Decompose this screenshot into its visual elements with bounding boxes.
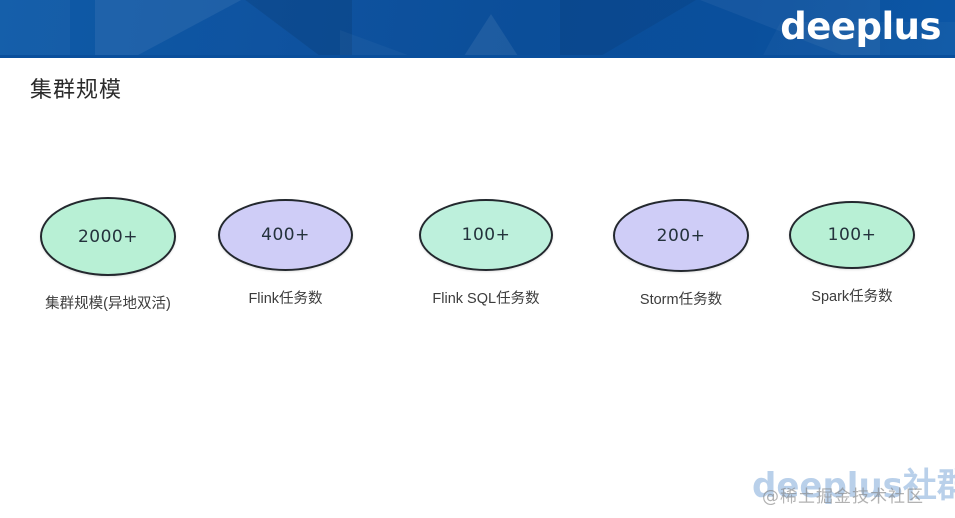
banner-shape-1 bbox=[0, 0, 70, 55]
header-banner: deeplus bbox=[0, 0, 955, 55]
watermark-source: @稀土掘金技术社区 bbox=[762, 482, 924, 507]
metric-label: Storm任务数 bbox=[613, 288, 749, 309]
metric-item: 200+Storm任务数 bbox=[613, 199, 749, 309]
banner-shape-2 bbox=[95, 0, 245, 55]
metric-ellipse: 400+ bbox=[218, 199, 353, 271]
metric-ellipse: 200+ bbox=[613, 199, 749, 272]
banner-shape-5 bbox=[455, 14, 527, 55]
banner-underline bbox=[0, 55, 955, 58]
metric-label: Flink任务数 bbox=[218, 287, 353, 308]
metric-value: 200+ bbox=[657, 226, 706, 246]
metric-item: 2000+集群规模(异地双活) bbox=[40, 197, 176, 313]
banner-shape-3 bbox=[232, 0, 352, 55]
metric-value: 100+ bbox=[462, 225, 511, 245]
page-title: 集群规模 bbox=[30, 72, 122, 104]
metrics-row: 2000+集群规模(异地双活)400+Flink任务数100+Flink SQL… bbox=[0, 193, 955, 323]
metric-ellipse: 100+ bbox=[789, 201, 915, 269]
metric-item: 100+Spark任务数 bbox=[789, 201, 915, 306]
banner-shape-6 bbox=[560, 0, 730, 55]
metric-label: Flink SQL任务数 bbox=[419, 287, 553, 308]
metric-value: 2000+ bbox=[78, 227, 138, 247]
deeplus-logo: deeplus bbox=[780, 4, 941, 50]
metric-value: 400+ bbox=[261, 225, 310, 245]
metric-ellipse: 2000+ bbox=[40, 197, 176, 276]
banner-shape-4 bbox=[340, 30, 470, 55]
slide-canvas: deeplus 集群规模 2000+集群规模(异地双活)400+Flink任务数… bbox=[0, 0, 955, 518]
metric-item: 100+Flink SQL任务数 bbox=[419, 199, 553, 308]
metric-item: 400+Flink任务数 bbox=[218, 199, 353, 308]
metric-label: Spark任务数 bbox=[789, 285, 915, 306]
metric-ellipse: 100+ bbox=[419, 199, 553, 271]
metric-label: 集群规模(异地双活) bbox=[40, 292, 176, 313]
metric-value: 100+ bbox=[828, 225, 877, 245]
